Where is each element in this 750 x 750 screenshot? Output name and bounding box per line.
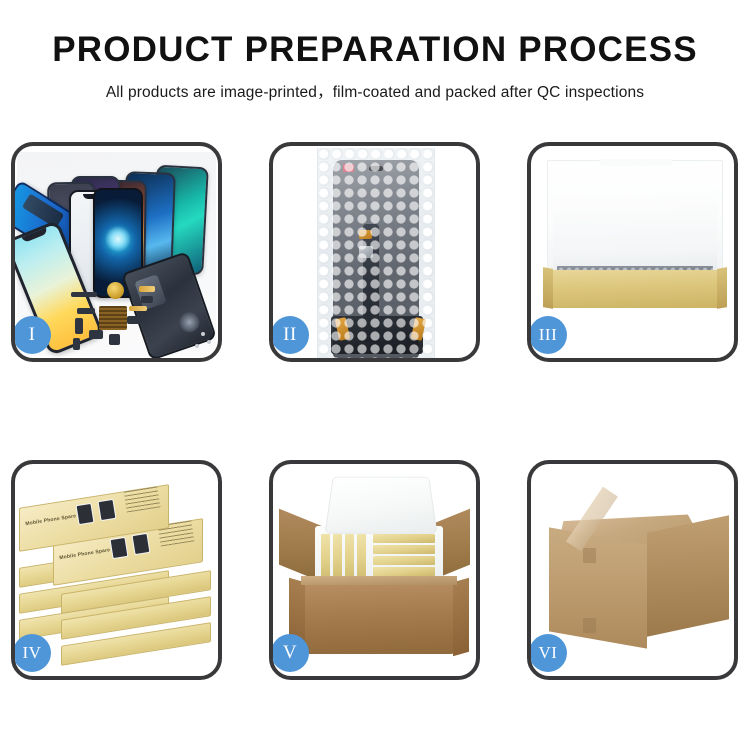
- part-screw-c: [195, 344, 199, 348]
- part-shield-can: [89, 330, 103, 339]
- step-badge-4: IV: [13, 634, 51, 672]
- part-flex-cable-2: [129, 306, 147, 311]
- packed-retail-box-flat: [373, 534, 435, 543]
- page-subtitle: All products are image-printed，film-coat…: [0, 80, 750, 102]
- process-step-panel-1[interactable]: I: [11, 142, 222, 362]
- part-screw-b: [207, 340, 211, 344]
- part-screw-grid: [99, 306, 127, 330]
- part-flex-cable: [139, 286, 155, 292]
- tape-tab-upper: [583, 548, 596, 563]
- process-step-panel-6[interactable]: VI: [527, 460, 738, 680]
- step-badge-6: VI: [529, 634, 567, 672]
- carton-side-face: [647, 515, 729, 636]
- part-connector-strip: [71, 292, 97, 297]
- packed-retail-box-flat: [373, 567, 435, 576]
- page-header: PRODUCT PREPARATION PROCESS All products…: [0, 0, 750, 102]
- part-speaker-coil: [107, 282, 124, 299]
- packed-retail-box-flat: [373, 556, 435, 565]
- step-badge-5: V: [271, 634, 309, 672]
- part-clip: [75, 318, 83, 334]
- packed-retail-box: [333, 534, 342, 582]
- carton-body: [303, 582, 455, 654]
- process-step-panel-5[interactable]: V: [269, 460, 480, 680]
- process-step-grid: I II III: [11, 142, 739, 680]
- box-artwork-screen-b: [132, 533, 151, 555]
- tape-tab-lower: [583, 618, 596, 633]
- part-screw-a: [201, 332, 205, 336]
- part-vibrator: [127, 316, 140, 324]
- step-badge-2: II: [271, 316, 309, 354]
- packed-retail-box: [345, 534, 354, 582]
- kraft-tray-base: [545, 270, 725, 308]
- process-step-panel-3[interactable]: III: [527, 142, 738, 362]
- process-step-panel-2[interactable]: II: [269, 142, 480, 362]
- box-artwork-screen-c: [76, 503, 95, 525]
- step-badge-1: I: [13, 316, 51, 354]
- part-sim-tray: [73, 338, 80, 350]
- flex-connector: [359, 230, 372, 239]
- process-step-panel-4[interactable]: Mobile Phone Spare Parts Mobile Phone Sp…: [11, 460, 222, 680]
- part-camera-module: [109, 334, 120, 345]
- qc-sticker: [343, 164, 354, 172]
- driver-ic: [359, 246, 373, 258]
- packed-retail-box-flat: [373, 545, 435, 554]
- packed-retail-box: [357, 534, 366, 582]
- foam-lid-open: [325, 477, 438, 534]
- carton-rim: [301, 576, 457, 585]
- box-artwork-screen-a: [110, 537, 129, 559]
- page-title: PRODUCT PREPARATION PROCESS: [0, 32, 750, 69]
- white-foam-sheet: [553, 198, 717, 272]
- packed-retail-box: [321, 534, 330, 582]
- part-button-bracket: [141, 296, 153, 303]
- carton-front-face: [549, 527, 647, 648]
- box-artwork-screen-d: [98, 499, 117, 521]
- step-badge-3: III: [529, 316, 567, 354]
- part-bracket-small: [77, 308, 95, 314]
